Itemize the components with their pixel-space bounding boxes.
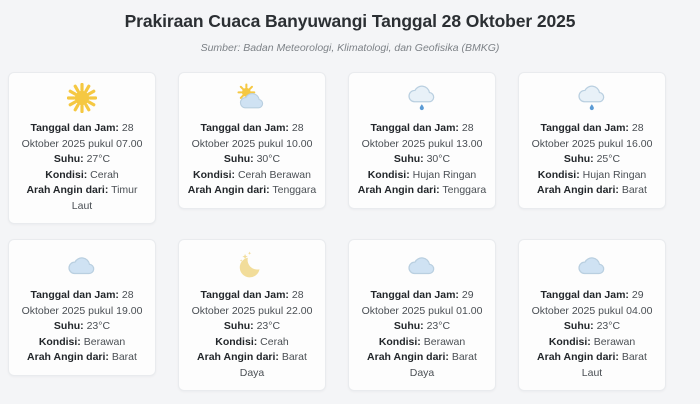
page-header: Prakiraan Cuaca Banyuwangi Tanggal 28 Ok… [8,0,692,54]
forecast-condition-label: Kondisi: [45,169,87,181]
forecast-datetime-label: Tanggal dan Jam: [540,289,629,301]
forecast-details: Tanggal dan Jam: 28 Oktober 2025 pukul 0… [16,121,148,214]
forecast-wind-value: Tenggara [442,184,486,196]
forecast-temperature-label: Suhu: [54,153,84,165]
forecast-wind-label: Arah Angin dari: [26,184,108,196]
sun-icon [67,83,97,118]
forecast-datetime: Tanggal dan Jam: 28 Oktober 2025 pukul 1… [186,121,318,152]
forecast-datetime-label: Tanggal dan Jam: [30,122,119,134]
forecast-datetime: Tanggal dan Jam: 28 Oktober 2025 pukul 1… [16,288,148,319]
forecast-temperature-value: 23°C [427,320,450,332]
forecast-condition-label: Kondisi: [193,169,235,181]
forecast-condition-label: Kondisi: [379,336,421,348]
forecast-card: Tanggal dan Jam: 28 Oktober 2025 pukul 1… [8,239,156,376]
forecast-datetime-label: Tanggal dan Jam: [200,289,289,301]
forecast-card: Tanggal dan Jam: 28 Oktober 2025 pukul 1… [178,72,326,209]
forecast-wind-label: Arah Angin dari: [367,351,449,363]
cloud-icon [575,252,609,283]
forecast-wind-label: Arah Angin dari: [197,351,279,363]
forecast-temperature: Suhu: 23°C [16,319,148,335]
forecast-datetime-label: Tanggal dan Jam: [30,289,119,301]
forecast-card: Tanggal dan Jam: 28 Oktober 2025 pukul 0… [8,72,156,224]
rain-cloud-icon [575,82,609,119]
forecast-condition: Kondisi: Cerah [16,168,148,184]
forecast-datetime: Tanggal dan Jam: 28 Oktober 2025 pukul 0… [16,121,148,152]
forecast-card: Tanggal dan Jam: 28 Oktober 2025 pukul 1… [348,72,496,209]
forecast-details: Tanggal dan Jam: 28 Oktober 2025 pukul 1… [16,288,148,366]
forecast-temperature-label: Suhu: [394,320,424,332]
forecast-datetime-label: Tanggal dan Jam: [370,122,459,134]
forecast-temperature-value: 27°C [87,153,110,165]
forecast-temperature-label: Suhu: [224,153,254,165]
forecast-temperature: Suhu: 23°C [186,319,318,335]
forecast-condition: Kondisi: Hujan Ringan [526,168,658,184]
forecast-condition-value: Cerah [260,336,289,348]
forecast-condition-value: Berawan [424,336,465,348]
forecast-condition: Kondisi: Berawan [16,335,148,351]
forecast-wind: Arah Angin dari: Timur Laut [16,183,148,214]
forecast-condition-label: Kondisi: [549,336,591,348]
forecast-wind-label: Arah Angin dari: [358,184,440,196]
forecast-details: Tanggal dan Jam: 28 Oktober 2025 pukul 1… [186,121,318,199]
forecast-temperature: Suhu: 30°C [186,152,318,168]
weather-icon-wrap [186,250,318,284]
forecast-condition-value: Berawan [594,336,635,348]
forecast-temperature-value: 25°C [597,153,620,165]
page-title: Prakiraan Cuaca Banyuwangi Tanggal 28 Ok… [8,11,692,32]
forecast-wind: Arah Angin dari: Barat Daya [356,350,488,381]
forecast-details: Tanggal dan Jam: 29 Oktober 2025 pukul 0… [526,288,658,381]
forecast-condition-label: Kondisi: [39,336,81,348]
forecast-wind-value: Barat [622,184,647,196]
forecast-condition-label: Kondisi: [538,169,580,181]
forecast-wind-label: Arah Angin dari: [537,184,619,196]
cloud-icon [65,252,99,283]
forecast-card: Tanggal dan Jam: 29 Oktober 2025 pukul 0… [518,239,666,391]
forecast-wind: Arah Angin dari: Barat [526,183,658,199]
weather-icon-wrap [16,83,148,117]
forecast-condition: Kondisi: Berawan [356,335,488,351]
forecast-condition-value: Hujan Ringan [413,169,477,181]
forecast-wind-label: Arah Angin dari: [537,351,619,363]
forecast-temperature: Suhu: 25°C [526,152,658,168]
sun-behind-cloud-icon [235,83,269,118]
forecast-condition: Kondisi: Hujan Ringan [356,168,488,184]
forecast-condition-value: Cerah Berawan [238,169,311,181]
forecast-condition-value: Cerah [90,169,119,181]
forecast-datetime: Tanggal dan Jam: 28 Oktober 2025 pukul 1… [526,121,658,152]
forecast-temperature-label: Suhu: [54,320,84,332]
forecast-temperature: Suhu: 23°C [526,319,658,335]
forecast-temperature: Suhu: 23°C [356,319,488,335]
weather-icon-wrap [526,83,658,117]
forecast-wind: Arah Angin dari: Barat Daya [186,350,318,381]
forecast-condition: Kondisi: Cerah Berawan [186,168,318,184]
forecast-temperature-label: Suhu: [394,153,424,165]
forecast-condition: Kondisi: Cerah [186,335,318,351]
forecast-condition-value: Hujan Ringan [583,169,647,181]
crescent-moon-icon [236,250,268,285]
forecast-datetime: Tanggal dan Jam: 28 Oktober 2025 pukul 1… [356,121,488,152]
forecast-details: Tanggal dan Jam: 28 Oktober 2025 pukul 2… [186,288,318,381]
forecast-temperature-label: Suhu: [564,153,594,165]
forecast-wind-value: Barat [112,351,137,363]
rain-cloud-icon [405,82,439,119]
forecast-datetime-label: Tanggal dan Jam: [200,122,289,134]
forecast-wind-label: Arah Angin dari: [27,351,109,363]
page-subtitle-source: Sumber: Badan Meteorologi, Klimatologi, … [8,42,692,54]
weather-forecast-page: Prakiraan Cuaca Banyuwangi Tanggal 28 Ok… [0,0,700,404]
forecast-card: Tanggal dan Jam: 28 Oktober 2025 pukul 1… [518,72,666,209]
forecast-details: Tanggal dan Jam: 28 Oktober 2025 pukul 1… [356,121,488,199]
forecast-details: Tanggal dan Jam: 28 Oktober 2025 pukul 1… [526,121,658,199]
forecast-card: Tanggal dan Jam: 28 Oktober 2025 pukul 2… [178,239,326,391]
forecast-temperature-value: 30°C [257,153,280,165]
forecast-temperature-label: Suhu: [224,320,254,332]
forecast-condition-value: Berawan [84,336,125,348]
forecast-wind: Arah Angin dari: Barat Laut [526,350,658,381]
forecast-datetime-label: Tanggal dan Jam: [370,289,459,301]
forecast-wind: Arah Angin dari: Tenggara [356,183,488,199]
forecast-wind: Arah Angin dari: Barat [16,350,148,366]
forecast-datetime: Tanggal dan Jam: 28 Oktober 2025 pukul 2… [186,288,318,319]
forecast-details: Tanggal dan Jam: 29 Oktober 2025 pukul 0… [356,288,488,381]
forecast-wind-value: Tenggara [272,184,316,196]
forecast-temperature-value: 23°C [257,320,280,332]
forecast-datetime-label: Tanggal dan Jam: [540,122,629,134]
forecast-card: Tanggal dan Jam: 29 Oktober 2025 pukul 0… [348,239,496,391]
forecast-temperature-value: 30°C [427,153,450,165]
weather-icon-wrap [526,250,658,284]
weather-icon-wrap [16,250,148,284]
forecast-temperature-value: 23°C [597,320,620,332]
forecast-temperature: Suhu: 30°C [356,152,488,168]
forecast-condition-label: Kondisi: [368,169,410,181]
weather-icon-wrap [356,250,488,284]
forecast-temperature-value: 23°C [87,320,110,332]
cloud-icon [405,252,439,283]
forecast-temperature-label: Suhu: [564,320,594,332]
forecast-wind-label: Arah Angin dari: [188,184,270,196]
weather-icon-wrap [186,83,318,117]
forecast-condition-label: Kondisi: [215,336,257,348]
weather-icon-wrap [356,83,488,117]
forecast-temperature: Suhu: 27°C [16,152,148,168]
forecast-datetime: Tanggal dan Jam: 29 Oktober 2025 pukul 0… [356,288,488,319]
forecast-condition: Kondisi: Berawan [526,335,658,351]
forecast-card-grid: Tanggal dan Jam: 28 Oktober 2025 pukul 0… [8,72,692,391]
forecast-datetime: Tanggal dan Jam: 29 Oktober 2025 pukul 0… [526,288,658,319]
forecast-wind: Arah Angin dari: Tenggara [186,183,318,199]
